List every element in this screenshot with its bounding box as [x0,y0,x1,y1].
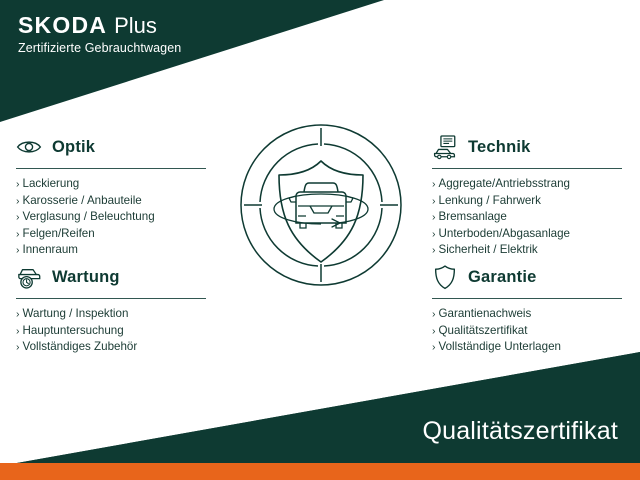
chevron-right-icon: › [16,210,20,226]
chevron-right-icon: › [16,307,20,323]
chevron-right-icon: › [16,340,20,356]
section-garantie-list: ›Garantienachweis ›Qualitätszertifikat ›… [432,306,628,356]
chevron-right-icon: › [432,194,436,210]
chevron-right-icon: › [16,194,20,210]
list-item-label: Sicherheit / Elektrik [439,242,538,258]
chevron-right-icon: › [432,324,436,340]
section-optik: Optik ›Lackierung ›Karosserie / Anbautei… [16,132,212,259]
section-wartung-list: ›Wartung / Inspektion ›Hauptuntersuchung… [16,306,212,356]
list-item-label: Vollständiges Zubehör [23,339,138,355]
list-item: ›Sicherheit / Elektrik [432,242,628,259]
list-item: ›Unterboden/Abgasanlage [432,226,628,243]
list-item-label: Vollständige Unterlagen [439,339,561,355]
section-technik-divider [432,168,622,169]
brand-row: SKODA Plus [18,14,181,37]
section-wartung-header: Wartung [16,262,212,292]
brand-plus-label: Plus [114,15,157,37]
list-item: ›Aggregate/Antriebsstrang [432,176,628,193]
list-item-label: Karosserie / Anbauteile [23,193,142,209]
list-item: ›Qualitätszertifikat [432,323,628,340]
list-item: ›Wartung / Inspektion [16,306,212,323]
list-item-label: Felgen/Reifen [23,226,95,242]
list-item: ›Vollständige Unterlagen [432,339,628,356]
section-wartung: Wartung ›Wartung / Inspektion ›Hauptunte… [16,262,212,356]
list-item: ›Felgen/Reifen [16,226,212,243]
list-item-label: Qualitätszertifikat [439,323,528,339]
eye-icon [16,134,42,160]
brand-tagline: Zertifizierte Gebrauchtwagen [18,41,181,55]
list-item-label: Wartung / Inspektion [23,306,129,322]
list-item-label: Verglasung / Beleuchtung [23,209,155,225]
section-garantie-divider [432,298,622,299]
car-document-icon [432,134,458,160]
list-item-label: Unterboden/Abgasanlage [439,226,571,242]
chevron-right-icon: › [432,227,436,243]
list-item-label: Lenkung / Fahrwerk [439,193,541,209]
list-item: ›Verglasung / Beleuchtung [16,209,212,226]
chevron-right-icon: › [432,307,436,323]
chevron-right-icon: › [432,210,436,226]
shield-icon [432,264,458,290]
list-item-label: Garantienachweis [439,306,532,322]
certificate-page: SKODA Plus Zertifizierte Gebrauchtwagen … [0,0,640,480]
chevron-right-icon: › [16,243,20,259]
chevron-right-icon: › [432,177,436,193]
section-wartung-title: Wartung [52,268,120,287]
section-optik-header: Optik [16,132,212,162]
chevron-right-icon: › [432,243,436,259]
section-garantie-header: Garantie [432,262,628,292]
list-item-label: Aggregate/Antriebsstrang [439,176,570,192]
section-optik-list: ›Lackierung ›Karosserie / Anbauteile ›Ve… [16,176,212,259]
section-optik-divider [16,168,206,169]
list-item: ›Garantienachweis [432,306,628,323]
chevron-right-icon: › [432,340,436,356]
section-technik-list: ›Aggregate/Antriebsstrang ›Lenkung / Fah… [432,176,628,259]
chevron-right-icon: › [16,227,20,243]
section-technik: Technik ›Aggregate/Antriebsstrang ›Lenku… [432,132,628,259]
list-item: ›Vollständiges Zubehör [16,339,212,356]
list-item: ›Innenraum [16,242,212,259]
list-item: ›Lenkung / Fahrwerk [432,193,628,210]
chevron-right-icon: › [16,177,20,193]
brand-skoda-wordmark: SKODA [18,14,107,37]
section-garantie: Garantie ›Garantienachweis ›Qualitätszer… [432,262,628,356]
orange-bottom-bar [0,463,640,480]
list-item: ›Hauptuntersuchung [16,323,212,340]
section-technik-title: Technik [468,138,531,157]
car-in-shield-target-icon [236,120,406,290]
list-item: ›Bremsanlage [432,209,628,226]
list-item: ›Lackierung [16,176,212,193]
chevron-right-icon: › [16,324,20,340]
list-item-label: Bremsanlage [439,209,507,225]
brand-lockup: SKODA Plus Zertifizierte Gebrauchtwagen [18,14,181,55]
bottom-green-diagonal [0,352,640,466]
car-clock-icon [16,264,42,290]
section-optik-title: Optik [52,138,95,157]
bottom-green-wedge [0,352,640,466]
footer-title: Qualitätszertifikat [422,417,618,446]
section-technik-header: Technik [432,132,628,162]
list-item-label: Lackierung [23,176,80,192]
list-item-label: Hauptuntersuchung [23,323,124,339]
list-item-label: Innenraum [23,242,78,258]
section-wartung-divider [16,298,206,299]
list-item: ›Karosserie / Anbauteile [16,193,212,210]
section-garantie-title: Garantie [468,268,537,287]
